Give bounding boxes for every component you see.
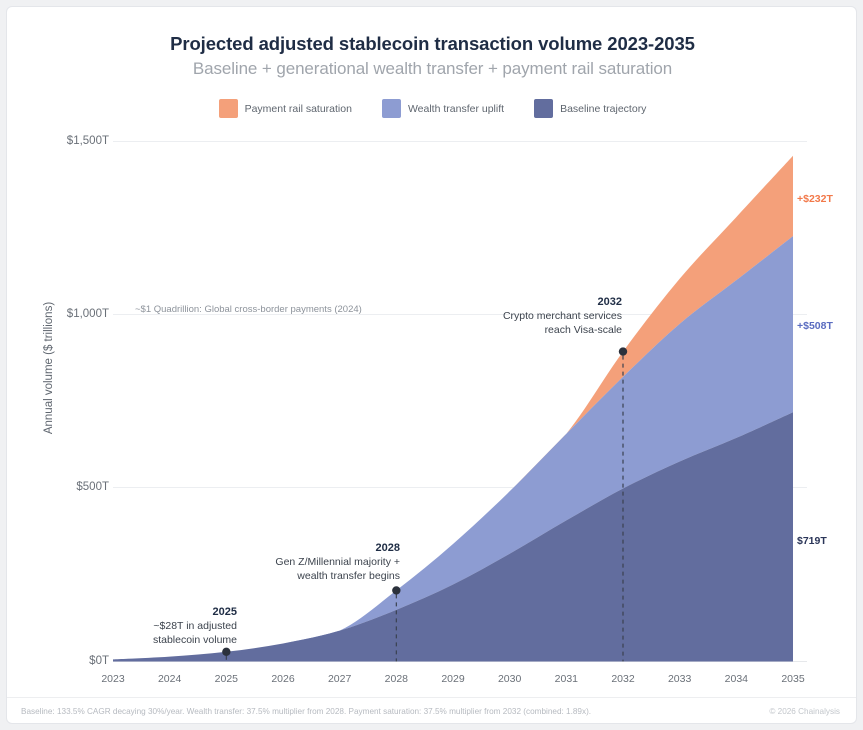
chart-plot-area: Annual volume ($ trillions) $1,500T $1,0…: [7, 7, 857, 724]
x-tick-2031: 2031: [541, 673, 591, 685]
annotation-quadrillion-note: ~$1 Quadrillion: Global cross-border pay…: [135, 304, 362, 315]
x-tick-2033: 2033: [655, 673, 705, 685]
y-tick-0: $0T: [39, 655, 109, 667]
end-label-wealth-transfer: +$508T: [797, 320, 833, 332]
x-tick-2027: 2027: [315, 673, 365, 685]
annotation-2028-year: 2028: [225, 541, 400, 555]
chart-card: Projected adjusted stablecoin transactio…: [6, 6, 857, 724]
annotation-2032-year: 2032: [454, 295, 622, 309]
annotation-2032-line2: reach Visa-scale: [545, 324, 622, 336]
end-label-payment-saturation: +$232T: [797, 193, 833, 205]
x-tick-2025: 2025: [201, 673, 251, 685]
x-tick-2034: 2034: [711, 673, 761, 685]
annotation-2028-line1: Gen Z/Millennial majority +: [275, 556, 400, 568]
annotation-2025: 2025 ~$28T in adjusted stablecoin volume: [67, 605, 237, 647]
annotation-2025-line1: ~$28T in adjusted: [153, 620, 237, 632]
annotation-2025-line2: stablecoin volume: [153, 634, 237, 646]
y-tick-500: $500T: [39, 481, 109, 493]
y-axis-title: Annual volume ($ trillions): [43, 268, 55, 468]
area-bands: [113, 156, 793, 662]
x-tick-2026: 2026: [258, 673, 308, 685]
annotation-2032-line1: Crypto merchant services: [503, 310, 622, 322]
annotation-2028: 2028 Gen Z/Millennial majority + wealth …: [225, 541, 400, 583]
x-tick-2024: 2024: [145, 673, 195, 685]
marker-dot-2032[interactable]: [619, 347, 627, 355]
x-tick-2030: 2030: [485, 673, 535, 685]
x-tick-2032: 2032: [598, 673, 648, 685]
end-label-baseline: $719T: [797, 535, 827, 547]
y-tick-1000: $1,000T: [39, 308, 109, 320]
marker-dot-2028[interactable]: [392, 586, 400, 594]
x-tick-2023: 2023: [88, 673, 138, 685]
y-tick-1500: $1,500T: [39, 135, 109, 147]
x-tick-2028: 2028: [371, 673, 421, 685]
footer-copyright: © 2026 Chainalysis: [769, 707, 840, 716]
footer-divider: [7, 697, 857, 698]
annotation-2028-line2: wealth transfer begins: [297, 570, 400, 582]
annotation-2032: 2032 Crypto merchant services reach Visa…: [454, 295, 622, 337]
annotation-2025-year: 2025: [67, 605, 237, 619]
x-tick-2029: 2029: [428, 673, 478, 685]
footer-note: Baseline: 133.5% CAGR decaying 30%/year.…: [21, 707, 591, 716]
x-tick-2035: 2035: [768, 673, 818, 685]
marker-dot-2025[interactable]: [222, 648, 230, 656]
